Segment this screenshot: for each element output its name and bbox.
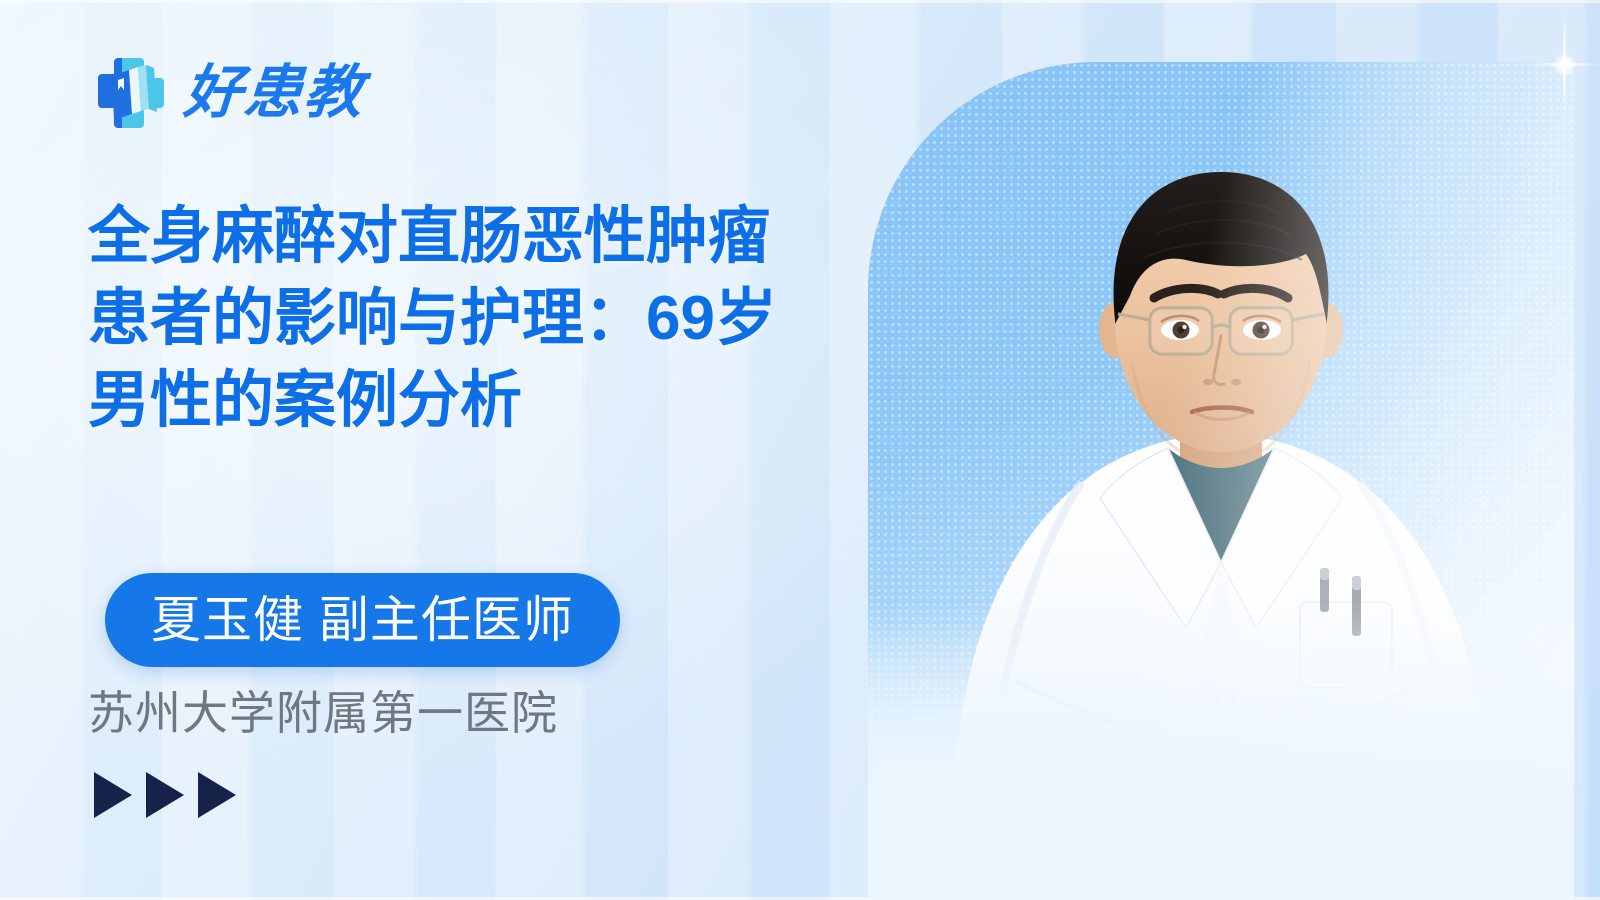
hospital-name: 苏州大学附属第一医院 bbox=[88, 686, 558, 741]
play-arrows bbox=[94, 772, 236, 818]
medical-cross-book-icon bbox=[88, 52, 170, 134]
slide-canvas: 好患教 全身麻醉对直肠恶性肿瘤 患者的影响与护理：69岁 男性的案例分析 夏玉健… bbox=[0, 0, 1600, 900]
play-triangle-icon bbox=[198, 772, 236, 818]
play-triangle-icon bbox=[146, 772, 184, 818]
brand-logo[interactable]: 好患教 bbox=[88, 52, 364, 134]
page-title: 全身麻醉对直肠恶性肿瘤 患者的影响与护理：69岁 男性的案例分析 bbox=[88, 196, 878, 441]
top-edge-line bbox=[0, 0, 1600, 3]
doctor-name-label: 夏玉健 副主任医师 bbox=[151, 595, 574, 645]
panel-bottom-fade bbox=[868, 600, 1574, 900]
brand-name: 好患教 bbox=[182, 64, 366, 122]
title-line-2: 患者的影响与护理：69岁 bbox=[88, 278, 878, 360]
play-triangle-icon bbox=[94, 772, 132, 818]
doctor-name-badge[interactable]: 夏玉健 副主任医师 bbox=[105, 573, 620, 667]
title-line-1: 全身麻醉对直肠恶性肿瘤 bbox=[88, 196, 878, 278]
title-line-3: 男性的案例分析 bbox=[88, 360, 878, 442]
doctor-photo-panel bbox=[868, 62, 1574, 900]
